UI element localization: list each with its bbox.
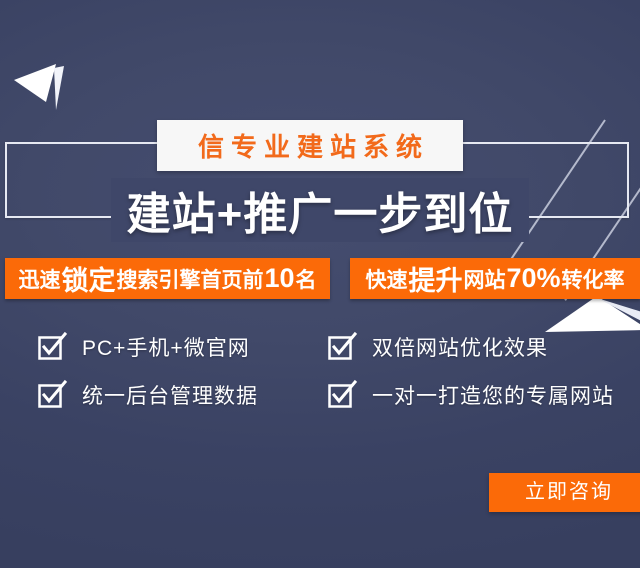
feature-label: 统一后台管理数据 (82, 380, 258, 410)
ribbon-left-part-5: 名 (296, 264, 317, 294)
headline-text: 建站+推广一步到位 (111, 178, 530, 242)
ribbon-left-part-2: 锁定 (61, 259, 115, 298)
ribbon-right-part-5: 转化率 (562, 264, 625, 294)
ribbon-left-part-1: 迅速 (18, 264, 60, 294)
feature-row: 统一后台管理数据 一对一打造您的专属网站 (38, 380, 634, 410)
ribbon-right: 快速 提升 网站 70% 转化率 (350, 258, 640, 299)
ribbon-left-part-4: 10 (264, 263, 294, 294)
feature-item: 双倍网站优化效果 (328, 332, 628, 362)
eyebrow-title-plate: 信专业建站系统 (157, 120, 463, 171)
feature-label: 双倍网站优化效果 (372, 332, 548, 362)
promo-banner: 信专业建站系统 建站+推广一步到位 迅速 锁定 搜索引擎首页前 10 名 快速 … (0, 0, 640, 568)
ribbon-left-part-3: 搜索引擎首页前 (116, 264, 263, 294)
eyebrow-title-text: 信专业建站系统 (191, 127, 429, 164)
consult-now-button[interactable]: 立即咨询 (489, 473, 640, 512)
feature-item: 统一后台管理数据 (38, 380, 328, 410)
feature-row: PC+手机+微官网 双倍网站优化效果 (38, 332, 634, 362)
checkbox-checked-icon (38, 334, 64, 360)
ribbon-right-part-1: 快速 (365, 264, 407, 294)
feature-label: PC+手机+微官网 (82, 332, 250, 362)
checkbox-checked-icon (328, 334, 354, 360)
checkbox-checked-icon (38, 382, 64, 408)
feature-list: PC+手机+微官网 双倍网站优化效果 (38, 332, 634, 428)
paper-plane-icon (12, 58, 92, 116)
checkbox-checked-icon (328, 382, 354, 408)
ribbon-right-part-4: 70% (506, 263, 560, 294)
ribbon-right-part-2: 提升 (408, 259, 462, 298)
feature-item: PC+手机+微官网 (38, 332, 328, 362)
ribbon-left: 迅速 锁定 搜索引擎首页前 10 名 (5, 258, 330, 299)
feature-label: 一对一打造您的专属网站 (372, 380, 614, 410)
headline: 建站+推广一步到位 (0, 178, 640, 242)
feature-item: 一对一打造您的专属网站 (328, 380, 628, 410)
ribbon-right-part-3: 网站 (463, 264, 505, 294)
